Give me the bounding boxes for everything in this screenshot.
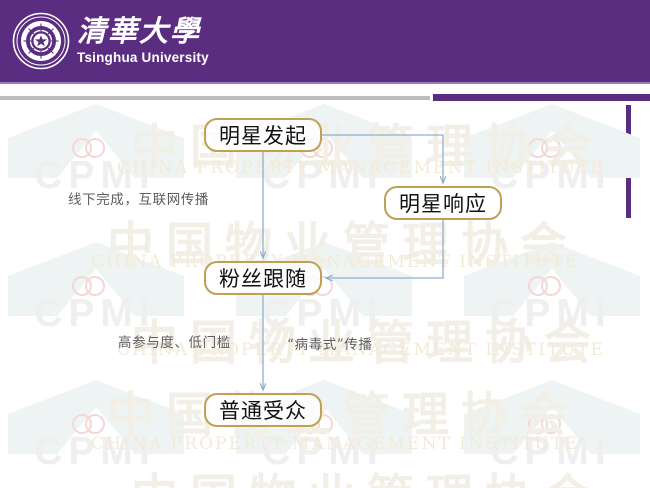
annotation-offline-online: 线下完成，互联网传播 [68, 188, 209, 208]
flow-node-label: 粉丝跟随 [219, 263, 307, 293]
flow-node-star-initiate[interactable]: 明星发起 [204, 118, 322, 152]
flow-node-general-audience[interactable]: 普通受众 [204, 393, 322, 427]
slide-canvas: 清華大學 Tsinghua University CPMI CPMI [0, 0, 650, 488]
annotation-viral-spread: “病毒式”传播 [287, 333, 373, 353]
flow-node-label: 明星发起 [219, 120, 307, 150]
flow-node-star-respond[interactable]: 明星响应 [384, 186, 502, 220]
flow-connectors [0, 0, 650, 488]
flowchart: 明星发起 明星响应 粉丝跟随 普通受众 线下完成，互联网传播 高参与度、低门槛 … [0, 0, 650, 488]
flow-node-label: 明星响应 [399, 188, 487, 218]
annotation-high-engagement: 高参与度、低门槛 [118, 331, 231, 351]
flow-node-label: 普通受众 [219, 395, 307, 425]
flow-node-fans-follow[interactable]: 粉丝跟随 [204, 261, 322, 295]
